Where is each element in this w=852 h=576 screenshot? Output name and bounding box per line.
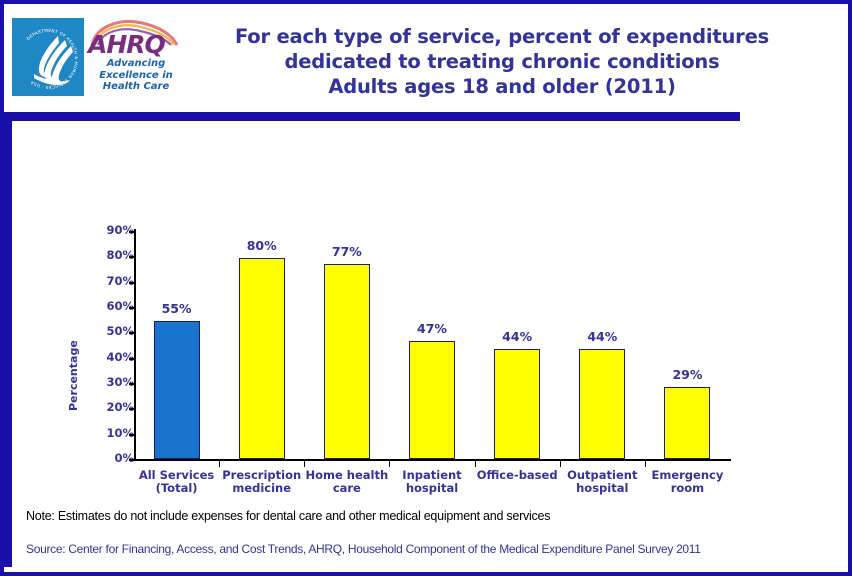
x-category-label: Office-based [474, 469, 560, 482]
plot-area [134, 231, 730, 459]
slide-header: DEPARTMENT OF HEALTH & HUMAN SERVICES · … [4, 4, 848, 108]
y-tick-mark [129, 231, 135, 233]
x-tick-mark [219, 461, 220, 467]
x-category-label-line: medicine [219, 482, 305, 495]
bar[interactable] [494, 349, 540, 459]
bar[interactable] [324, 264, 370, 459]
y-tick-mark [129, 408, 135, 410]
y-tick-mark [129, 256, 135, 258]
y-tick-mark [129, 282, 135, 284]
header-divider [4, 112, 740, 121]
x-category-label: Prescriptionmedicine [219, 469, 305, 495]
y-axis-tick-labels: 90%80%70%60%50%40%30%20%10%0% [88, 231, 134, 459]
y-tick-label: 30% [92, 377, 134, 389]
source-text: Source: Center for Financing, Access, an… [26, 542, 826, 556]
x-category-label: Emergencyroom [644, 469, 730, 495]
y-tick-mark [129, 307, 135, 309]
x-tick-mark [645, 461, 646, 467]
hhs-seal-icon: DEPARTMENT OF HEALTH & HUMAN SERVICES · … [12, 18, 84, 96]
x-tick-mark [560, 461, 561, 467]
x-tick-mark [389, 461, 390, 467]
y-tick-label: 70% [92, 276, 134, 288]
bar[interactable] [154, 321, 200, 459]
x-category-label-line: hospital [389, 482, 475, 495]
y-tick-mark [129, 434, 135, 436]
bar[interactable] [579, 349, 625, 459]
bar-value-label: 29% [657, 368, 717, 381]
agency-logo-block: DEPARTMENT OF HEALTH & HUMAN SERVICES · … [12, 18, 184, 98]
page-title-line-2: dedicated to treating chronic conditions [192, 49, 812, 74]
ahrq-tagline-line-2: Excellence in [90, 70, 182, 82]
bar[interactable] [664, 387, 710, 459]
page-title: For each type of service, percent of exp… [192, 24, 812, 99]
bar-chart: Percentage 90%80%70%60%50%40%30%20%10%0%… [12, 121, 848, 501]
y-tick-mark [129, 332, 135, 334]
y-tick-label: 10% [92, 428, 134, 440]
bar-value-label: 77% [317, 245, 377, 258]
x-category-label: All Services(Total) [134, 469, 220, 495]
bar[interactable] [239, 258, 285, 459]
y-tick-label: 80% [92, 250, 134, 262]
slide-page: DEPARTMENT OF HEALTH & HUMAN SERVICES · … [0, 0, 852, 576]
x-category-label-line: room [644, 482, 730, 495]
note-text: Note: Estimates do not include expenses … [26, 509, 826, 523]
ahrq-tagline-line-3: Health Care [90, 81, 182, 93]
y-tick-mark [129, 358, 135, 360]
x-category-label: Outpatienthospital [559, 469, 645, 495]
x-category-label-line: care [304, 482, 390, 495]
y-tick-mark [129, 459, 135, 461]
y-tick-label: 90% [92, 225, 134, 237]
ahrq-logo-icon: AHRQ Advancing Excellence in Health Care [84, 18, 182, 96]
ahrq-tagline-line-1: Advancing [90, 58, 182, 70]
bar[interactable] [409, 341, 455, 459]
y-tick-label: 20% [92, 402, 134, 414]
y-tick-label: 60% [92, 301, 134, 313]
y-tick-label: 0% [92, 453, 134, 465]
y-tick-label: 40% [92, 352, 134, 364]
x-tick-mark [304, 461, 305, 467]
x-category-label: Home healthcare [304, 469, 390, 495]
y-axis-label: Percentage [67, 340, 80, 411]
page-title-line-1: For each type of service, percent of exp… [192, 24, 812, 49]
x-category-label-line: (Total) [134, 482, 220, 495]
bar-value-label: 55% [147, 302, 207, 315]
x-tick-mark [475, 461, 476, 467]
x-category-label-line: hospital [559, 482, 645, 495]
y-tick-label: 50% [92, 326, 134, 338]
bar-value-label: 44% [572, 330, 632, 343]
bar-value-label: 44% [487, 330, 547, 343]
y-tick-mark [129, 383, 135, 385]
bar-value-label: 80% [232, 239, 292, 252]
x-category-label: Inpatienthospital [389, 469, 475, 495]
bar-value-label: 47% [402, 322, 462, 335]
x-axis-line [134, 459, 731, 461]
left-accent-bar [4, 112, 12, 567]
ahrq-wordmark: AHRQ [88, 32, 165, 57]
page-title-line-3: Adults ages 18 and older (2011) [192, 74, 812, 99]
x-category-label-line: Office-based [474, 469, 560, 482]
ahrq-tagline: Advancing Excellence in Health Care [90, 58, 182, 93]
